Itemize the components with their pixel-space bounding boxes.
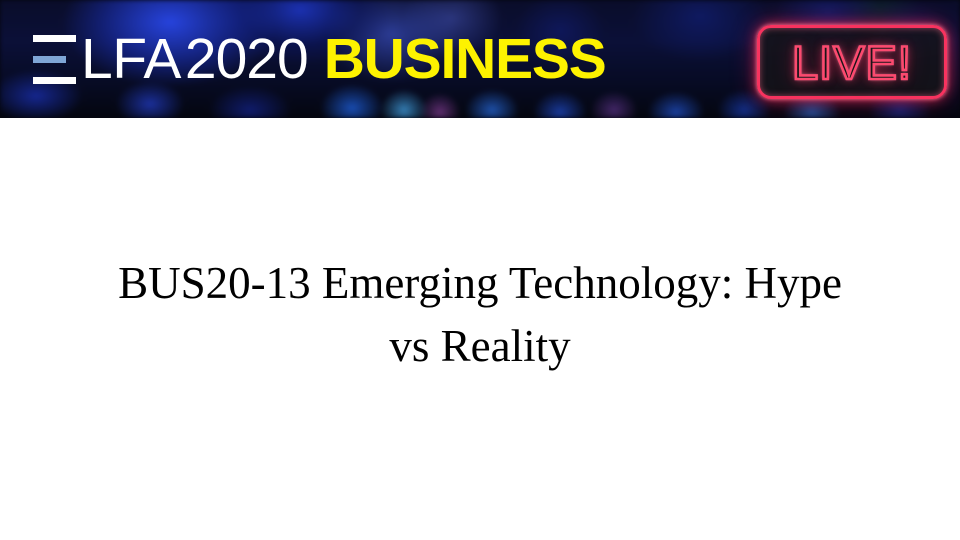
- live-badge: LIVE!: [757, 25, 947, 99]
- logo-text-year: 2020: [185, 31, 308, 88]
- page-title: BUS20-13 Emerging Technology: Hype vs Re…: [48, 252, 912, 378]
- page-title-line-2: vs Reality: [389, 321, 570, 371]
- slide-title-block: BUS20-13 Emerging Technology: Hype vs Re…: [48, 252, 912, 378]
- elfa-2020-business-logo: LFA 2020 BUSINESS: [33, 24, 606, 94]
- elfa-three-bar-e-icon: [33, 35, 76, 84]
- live-badge-label: LIVE!: [792, 39, 912, 86]
- page-title-line-1: BUS20-13 Emerging Technology: Hype: [118, 258, 842, 308]
- logo-text-business: BUSINESS: [324, 31, 606, 88]
- event-banner: LFA 2020 BUSINESS LIVE!: [0, 0, 960, 118]
- presentation-slide: LFA 2020 BUSINESS LIVE! BUS20-13 Emergin…: [0, 0, 960, 540]
- logo-text-lfa: LFA: [81, 31, 181, 88]
